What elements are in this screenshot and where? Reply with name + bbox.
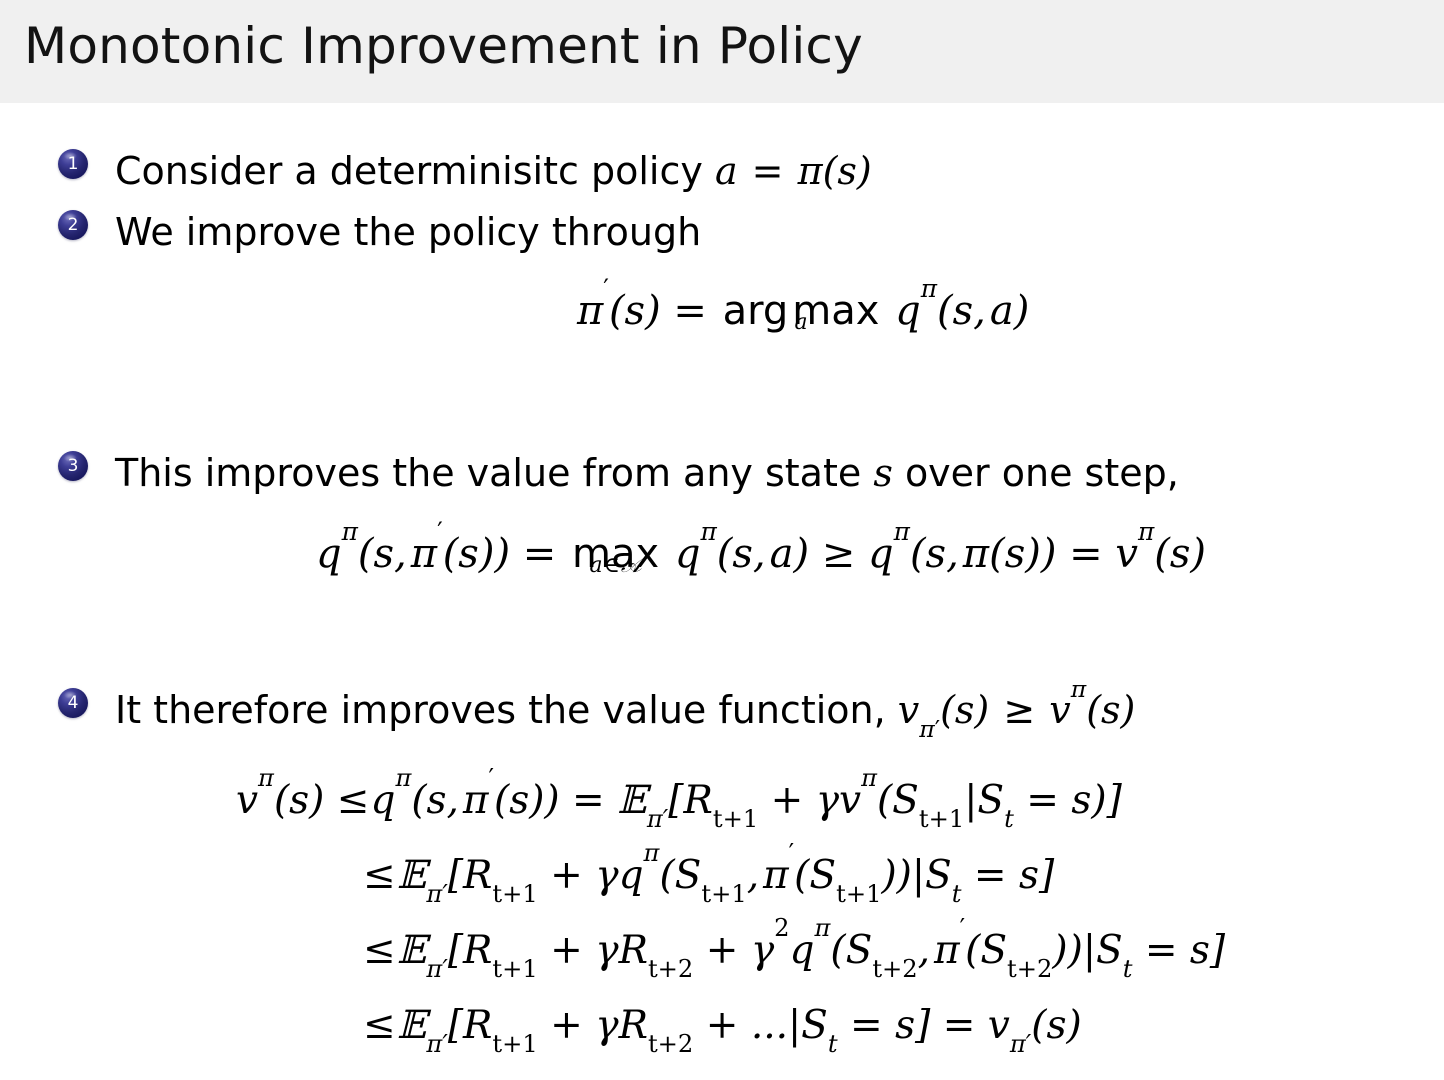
bullet-marker-2: 2	[58, 210, 88, 240]
item-4-math: vπ′(s) ≥ vπ(s)	[898, 688, 1136, 732]
page-title: Monotonic Improvement in Policy	[24, 17, 863, 75]
item-1-math: a = π(s)	[715, 149, 872, 193]
list-item: 3 This improves the value from any state…	[58, 451, 1179, 495]
list-item-text-4: It therefore improves the value function…	[115, 688, 1135, 732]
list-item: 4 It therefore improves the value functi…	[58, 688, 1135, 732]
bullet-marker-1: 1	[58, 149, 88, 179]
item-3-label-after: over one step,	[905, 451, 1179, 495]
list-item-text-3: This improves the value from any state s…	[115, 451, 1179, 495]
derivation-line-3: ≤𝔼π′[Rt+1 + γRt+2 + γ2qπ(St+2, π′(St+2))…	[236, 913, 1225, 988]
slide-header-bar: Monotonic Improvement in Policy	[0, 0, 1444, 103]
slide-content: 1 Consider a determinisitc policy a = π(…	[0, 103, 1444, 1080]
item-4-label: It therefore improves the value function…	[115, 688, 886, 732]
bullet-number-3: 3	[68, 456, 79, 476]
list-item-text-2: We improve the policy through	[115, 210, 701, 254]
derivation-line-1: vπ(s) ≤qπ(s, π′(s)) = 𝔼π′[Rt+1 + γvπ(St+…	[236, 763, 1225, 838]
list-item-text-1: Consider a determinisitc policy a = π(s)	[115, 149, 872, 193]
bullet-number-4: 4	[68, 693, 79, 713]
item-3-label-before: This improves the value from any state	[115, 451, 861, 495]
bullet-number-1: 1	[68, 154, 79, 174]
bullet-marker-3: 3	[58, 451, 88, 481]
derivation-line-2: ≤𝔼π′[Rt+1 + γqπ(St+1, π′(St+1))|St = s]	[236, 838, 1225, 913]
item-1-label: Consider a determinisitc policy	[115, 149, 703, 193]
list-item: 1 Consider a determinisitc policy a = π(…	[58, 149, 872, 193]
derivation-line-4: ≤𝔼π′[Rt+1 + γRt+2 + ...|St = s] = vπ′(s)	[236, 988, 1225, 1063]
equation-derivation-block: vπ(s) ≤qπ(s, π′(s)) = 𝔼π′[Rt+1 + γvπ(St+…	[236, 763, 1225, 1063]
list-item: 2 We improve the policy through	[58, 210, 701, 254]
bullet-number-2: 2	[68, 215, 79, 235]
item-3-math: s	[873, 451, 893, 495]
bullet-marker-4: 4	[58, 688, 88, 718]
equation-one-step-improvement: qπ(s, π′(s)) = maxa∈𝒜 qπ(s, a) ≥ qπ(s, π…	[316, 531, 1206, 577]
equation-policy-improvement: π′(s) = arg maxa qπ(s, a)	[577, 288, 1029, 334]
